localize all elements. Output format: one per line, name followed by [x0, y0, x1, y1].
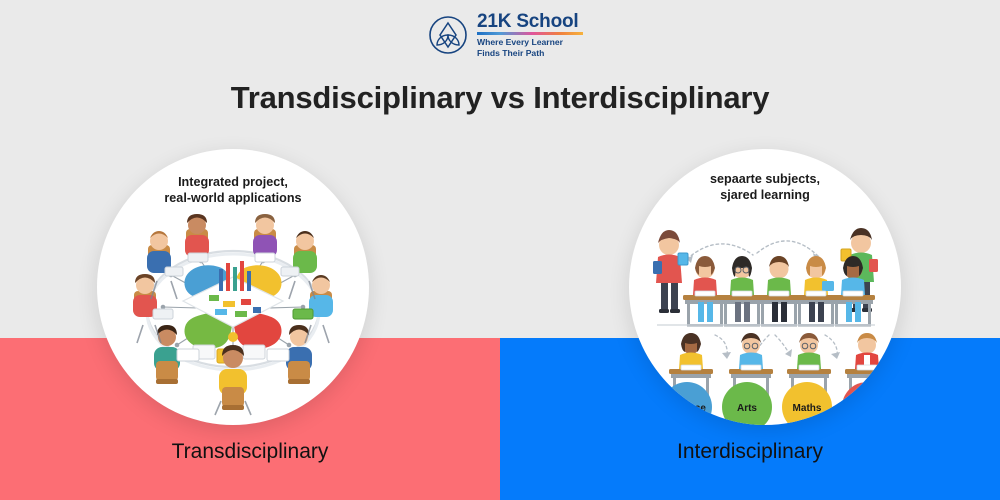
- round-table-collaboration-illustration: [97, 149, 369, 425]
- page-title: Transdisciplinary vs Interdisciplinary: [0, 80, 1000, 116]
- interdisciplinary-label: Interdisciplinary: [500, 440, 1000, 464]
- brand-tagline: Where Every Learner Finds Their Path: [477, 37, 583, 58]
- svg-text:English: English: [849, 403, 885, 414]
- svg-text:Maths: Maths: [793, 403, 822, 414]
- svg-text:Science: Science: [668, 403, 706, 414]
- subject-circle-arts: Arts: [722, 382, 772, 425]
- brand-name: 21K School: [477, 12, 583, 31]
- brand-logo: 21K School Where Every Learner Finds The…: [428, 11, 588, 59]
- brand-gradient-rule: [477, 32, 583, 35]
- interdisciplinary-panel: sepaarte subjects, sjared learning: [629, 149, 901, 425]
- transdisciplinary-label: Transdisciplinary: [0, 440, 500, 464]
- transdisciplinary-panel: Integrated project, real-world applicati…: [97, 149, 369, 425]
- subject-circle-science: Science: [662, 382, 712, 425]
- infographic-canvas: 21K School Where Every Learner Finds The…: [0, 0, 1000, 500]
- classroom-separate-subjects-illustration: Science Arts Maths English: [629, 149, 901, 425]
- brand-logo-text: 21K School Where Every Learner Finds The…: [477, 12, 583, 58]
- brand-tagline-line1: Where Every Learner: [477, 37, 583, 48]
- lotus-circle-icon: [428, 15, 468, 55]
- teacher-left: [653, 230, 688, 313]
- svg-text:Arts: Arts: [737, 403, 757, 414]
- brand-tagline-line2: Finds Their Path: [477, 48, 583, 59]
